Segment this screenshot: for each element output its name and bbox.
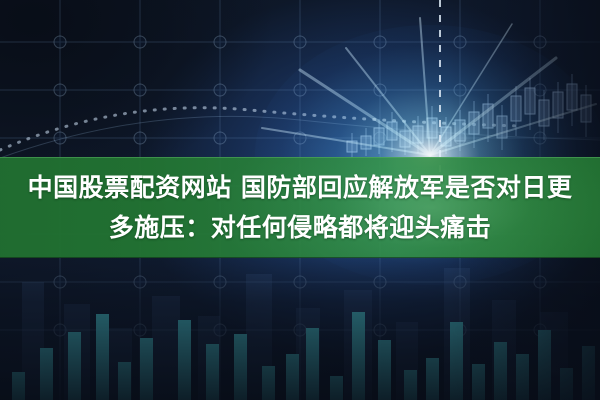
headline-banner: 中国股票配资网站 国防部回应解放军是否对日更 多施压：对任何侵略都将迎头痛击 (0, 157, 600, 258)
banner-top-edge (0, 157, 600, 158)
banner-bottom-edge (0, 257, 600, 258)
banner-image: 中国股票配资网站 国防部回应解放军是否对日更 多施压：对任何侵略都将迎头痛击 (0, 0, 600, 400)
headline-line-1: 中国股票配资网站 国防部回应解放军是否对日更 (28, 168, 573, 208)
headline-line-2: 多施压：对任何侵略都将迎头痛击 (109, 208, 492, 248)
